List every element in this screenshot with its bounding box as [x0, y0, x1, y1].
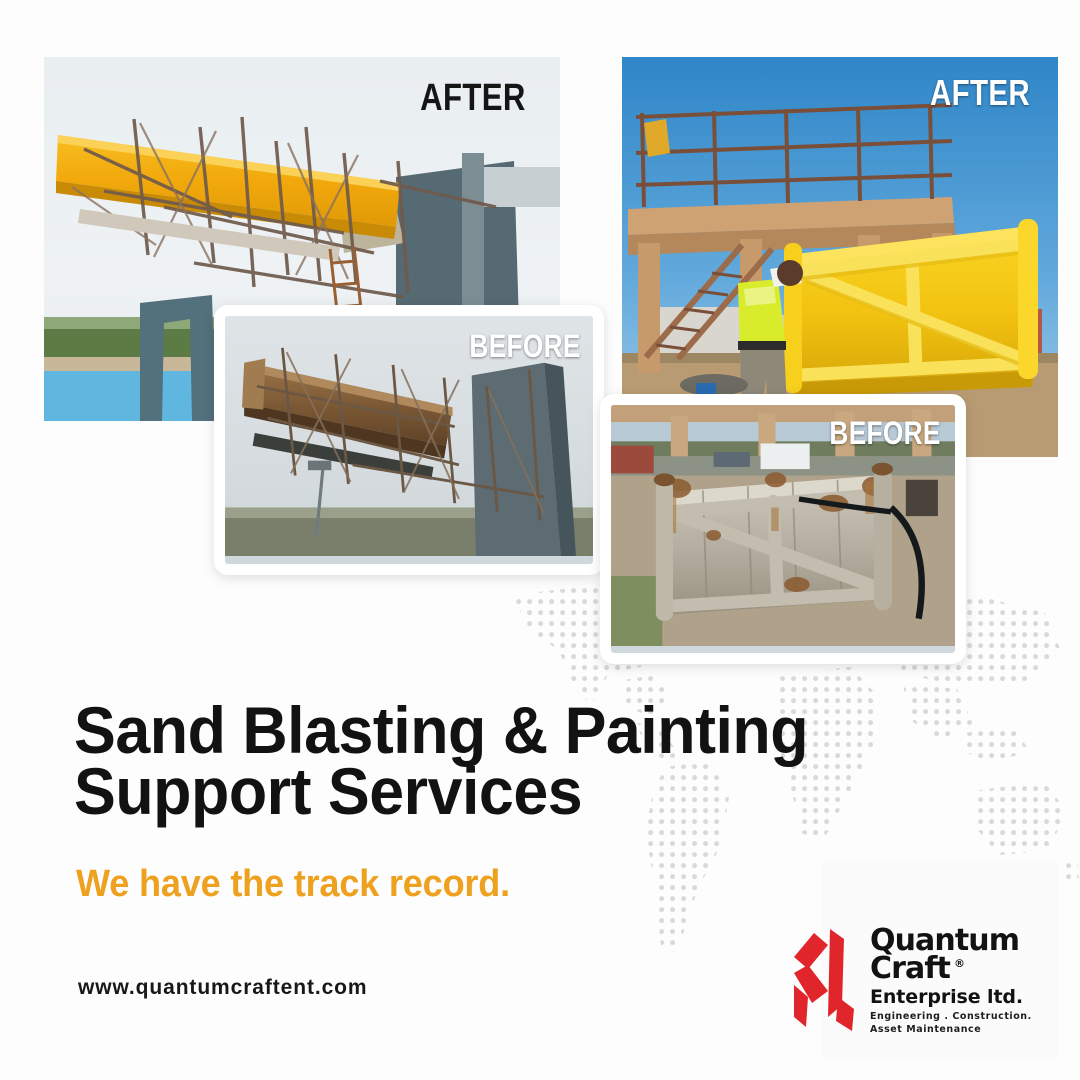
- registered-trademark-icon: ®: [954, 957, 965, 970]
- headline: Sand Blasting & Painting Support Service…: [74, 700, 758, 823]
- subheadline: We have the track record.: [76, 865, 510, 903]
- photo-after-skid-label: AFTER: [930, 75, 1030, 111]
- poster-canvas: AFTER: [0, 0, 1080, 1080]
- photo-after-beam-label: AFTER: [421, 79, 526, 117]
- logo-tagline-line-2: Asset Maintenance: [870, 1024, 1032, 1037]
- logo-word-craft: Craft: [870, 951, 950, 986]
- logo-tagline-line-1: Engineering . Construction.: [870, 1011, 1032, 1024]
- logo-wordmark: Quantum Craft® Enterprise ltd. Engineeri…: [870, 925, 1032, 1036]
- quantum-craft-mark-icon: [794, 925, 860, 1035]
- headline-line-2: Support Services: [74, 761, 758, 822]
- website-url[interactable]: www.quantumcraftent.com: [78, 976, 367, 1000]
- photo-before-skid[interactable]: BEFORE: [600, 394, 966, 664]
- photo-before-skid-label: BEFORE: [830, 417, 941, 449]
- headline-line-1: Sand Blasting & Painting: [74, 700, 758, 761]
- logo-enterprise-line: Enterprise ltd.: [870, 986, 1032, 1010]
- photo-before-beam[interactable]: BEFORE: [214, 305, 604, 575]
- photo-before-beam-label: BEFORE: [470, 330, 581, 362]
- company-logo[interactable]: Quantum Craft® Enterprise ltd. Engineeri…: [794, 925, 1070, 1045]
